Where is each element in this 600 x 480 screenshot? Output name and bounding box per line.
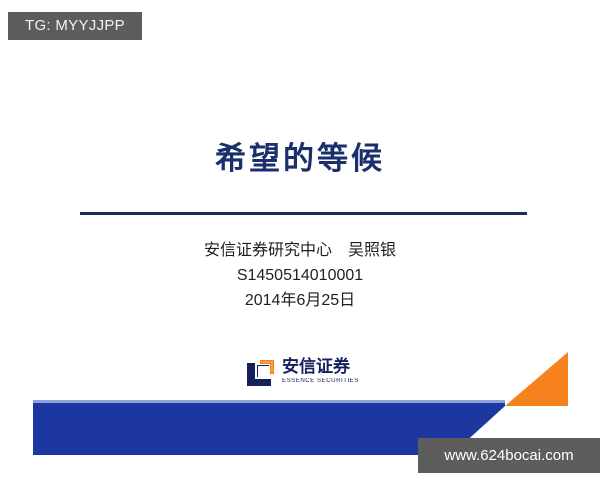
logo-wordmark: 安信证券 ESSENCE SECURITIES xyxy=(282,357,362,386)
company-logo: 安信证券 ESSENCE SECURITIES xyxy=(244,357,362,393)
logo-chinese-name: 安信证券 xyxy=(282,357,362,377)
logo-inner-notch xyxy=(257,365,269,377)
slide-canvas: 希望的等候 安信证券研究中心 吴照银 S1450514010001 2014年6… xyxy=(0,0,600,480)
subtitle-line-license: S1450514010001 xyxy=(0,263,600,288)
subtitle-line-institution: 安信证券研究中心 吴照银 xyxy=(0,238,600,263)
title-divider xyxy=(80,212,527,215)
essence-securities-logo-mark-icon xyxy=(244,358,276,388)
subtitle-block: 安信证券研究中心 吴照银 S1450514010001 2014年6月25日 xyxy=(0,238,600,313)
subtitle-line-date: 2014年6月25日 xyxy=(0,288,600,313)
site-watermark: www.624bocai.com xyxy=(418,438,600,473)
band-accent-line xyxy=(33,400,505,403)
tg-watermark-badge: TG: MYYJJPP xyxy=(8,12,142,40)
orange-triangle-shape xyxy=(505,352,568,406)
logo-english-name: ESSENCE SECURITIES xyxy=(282,377,364,386)
page-title: 希望的等候 xyxy=(0,133,600,178)
